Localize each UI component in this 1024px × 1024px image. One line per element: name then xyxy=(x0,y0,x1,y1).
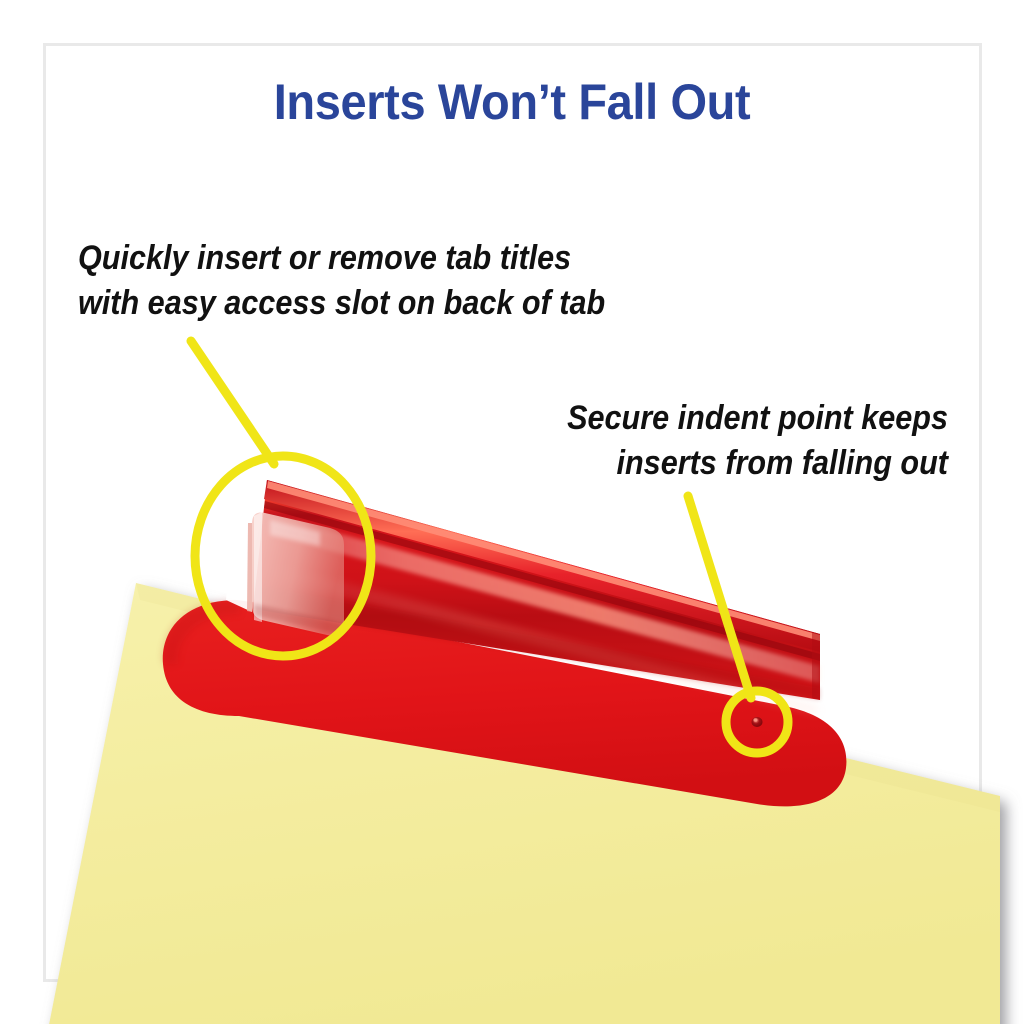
secure-indent-point xyxy=(752,717,763,727)
infographic-canvas: Inserts Won’t Fall Out Quickly insert or… xyxy=(0,0,1024,1024)
product-illustration xyxy=(0,0,1024,1024)
callout-left-line-2: with easy access slot on back of tab xyxy=(78,281,605,326)
callout-right-line-1: Secure indent point keeps xyxy=(567,396,948,441)
callout-left-line-1: Quickly insert or remove tab titles xyxy=(78,236,605,281)
callout-right-line-2: inserts from falling out xyxy=(567,441,948,486)
page-title: Inserts Won’t Fall Out xyxy=(31,76,994,128)
callout-text-left: Quickly insert or remove tab titles with… xyxy=(78,236,605,326)
callout-text-right: Secure indent point keeps inserts from f… xyxy=(567,396,948,486)
